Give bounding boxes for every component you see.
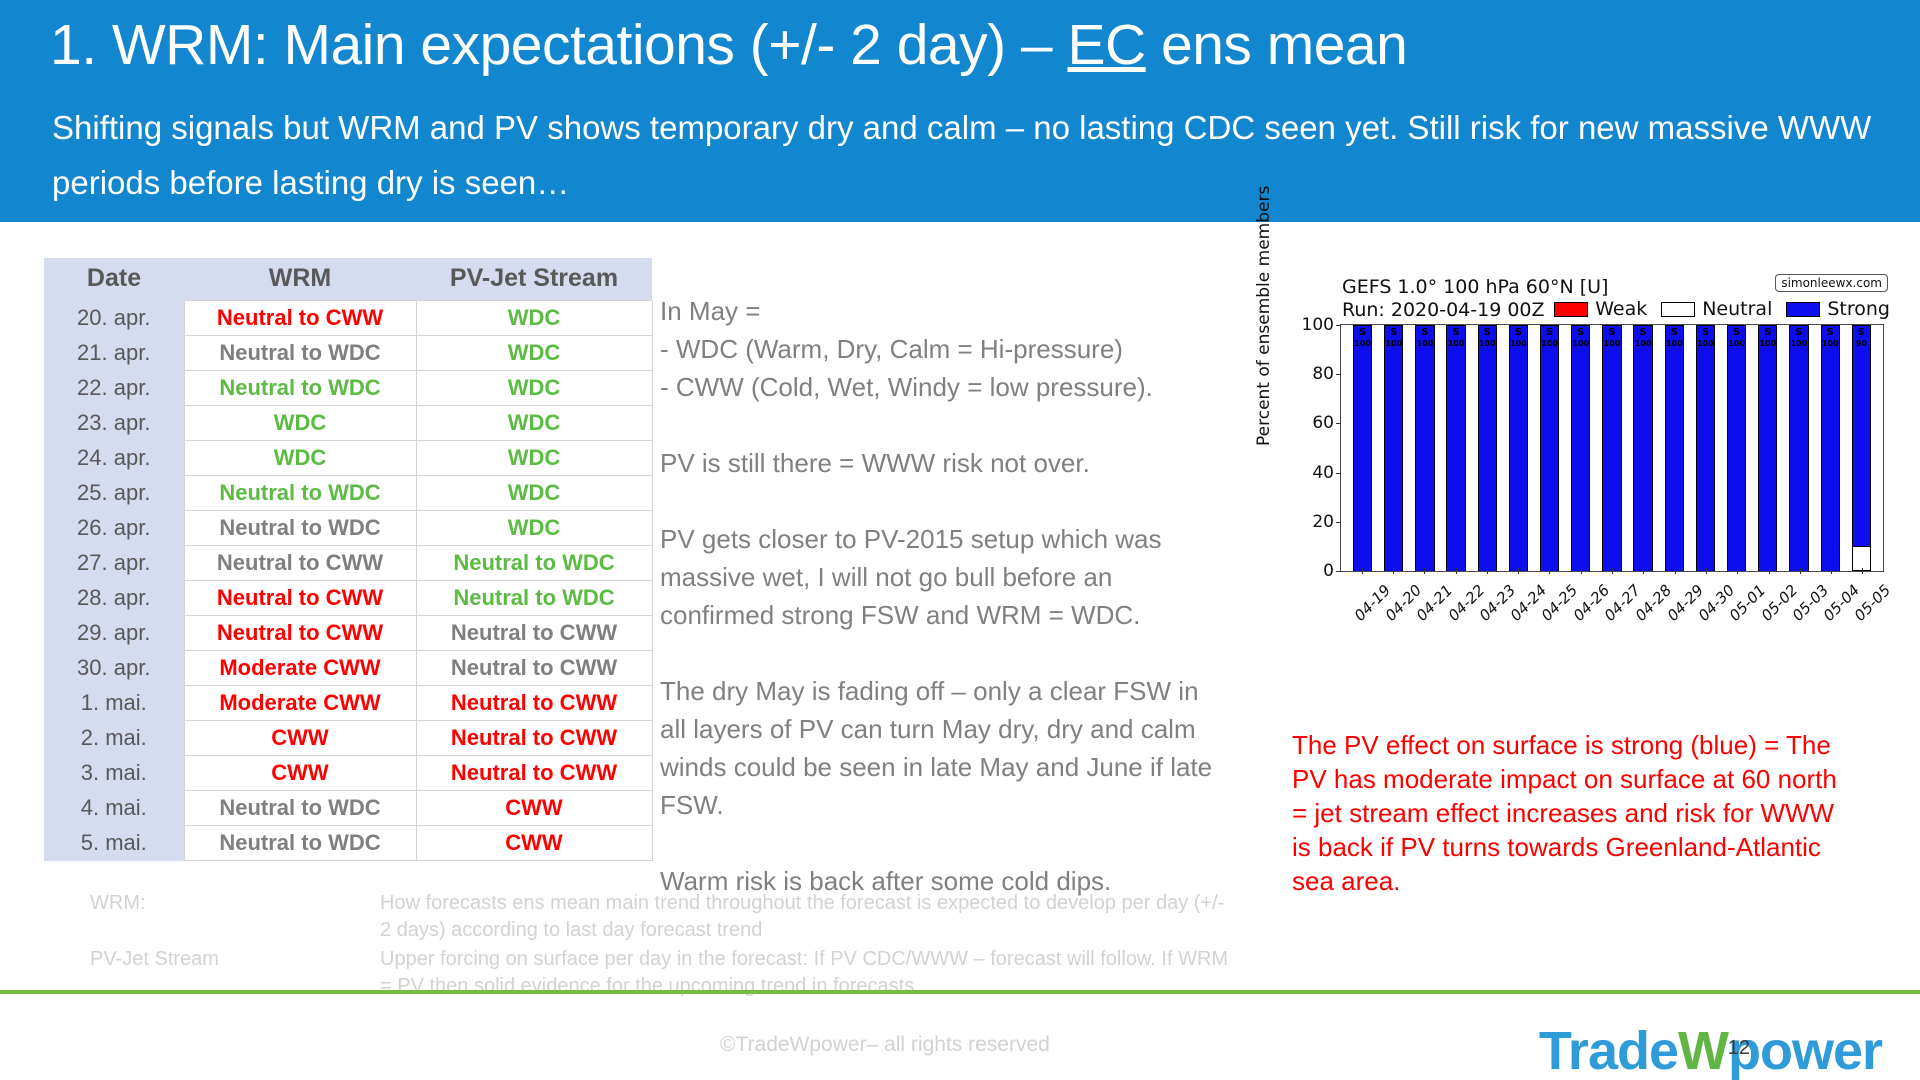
cell-date: 20. apr.: [44, 301, 184, 336]
copyright-text: ©TradeWpower– all rights reserved: [720, 1033, 1050, 1057]
tradewpower-logo: TradeWpower: [1539, 1020, 1882, 1080]
legend-item-strong: Strong: [1786, 298, 1890, 320]
footnote-value: How forecasts ens mean main trend throug…: [380, 890, 1240, 944]
x-tick: 04-23: [1471, 574, 1502, 654]
chart-legend: WeakNeutralStrong: [1554, 298, 1890, 320]
page-title-pre: 1. WRM: Main expectations (+/- 2 day) –: [50, 13, 1067, 77]
x-tick: 05-03: [1784, 574, 1815, 654]
chart-bar-cell: S100: [1752, 325, 1783, 571]
chart-bar-cell: S100: [1690, 325, 1721, 571]
column-header-pv: PV-Jet Stream: [416, 258, 652, 301]
legend-item-weak: Weak: [1554, 298, 1647, 320]
table-row: 23. apr.WDCWDC: [44, 406, 652, 441]
table-body: 20. apr.Neutral to CWWWDC21. apr.Neutral…: [44, 301, 652, 861]
cell-wrm: Neutral to CWW: [184, 581, 416, 616]
footer-divider: [0, 990, 1920, 994]
cell-pv: Neutral to CWW: [416, 756, 652, 791]
bar-category-tag: S: [1822, 327, 1839, 338]
cell-date: 2. mai.: [44, 721, 184, 756]
x-tick: 04-26: [1565, 574, 1596, 654]
bar-category-tag: S: [1603, 327, 1620, 338]
table-row: 5. mai.Neutral to WDCCWW: [44, 826, 652, 861]
chart-bar-cell: S100: [1378, 325, 1409, 571]
bar-segment-strong: S100: [1602, 325, 1621, 571]
table-row: 30. apr.Moderate CWWNeutral to CWW: [44, 651, 652, 686]
bar-category-tag: S: [1510, 327, 1527, 338]
x-tick-label: 05-05: [1851, 581, 1895, 625]
cell-pv: WDC: [416, 301, 652, 336]
chart-bar-cell: S100: [1347, 325, 1378, 571]
legend-swatch-icon: [1786, 302, 1820, 317]
y-tick-label: 100: [1302, 315, 1334, 335]
cell-date: 30. apr.: [44, 651, 184, 686]
table-row: 3. mai.CWWNeutral to CWW: [44, 756, 652, 791]
page-subtitle: Shifting signals but WRM and PV shows te…: [52, 100, 1882, 210]
cell-pv: Neutral to CWW: [416, 721, 652, 756]
cell-date: 26. apr.: [44, 511, 184, 546]
legend-footnotes: WRM:How forecasts ens mean main trend th…: [90, 890, 1240, 1002]
bar-segment-strong: S100: [1415, 325, 1434, 571]
bar-value-label: 100: [1666, 339, 1683, 348]
chart-bar-cell: S100: [1659, 325, 1690, 571]
x-tick: 05-05: [1847, 574, 1878, 654]
bar-segment-strong: S100: [1727, 325, 1746, 571]
bar-category-tag: S: [1759, 327, 1776, 338]
cell-date: 28. apr.: [44, 581, 184, 616]
chart-plot-area: 020406080100 S100S100S100S100S100S100S10…: [1340, 324, 1884, 572]
cell-wrm: Neutral to WDC: [184, 511, 416, 546]
bar-value-label: 100: [1479, 339, 1496, 348]
bar-value-label: 90: [1853, 339, 1870, 348]
chart-y-axis-label: Percent of ensemble members: [1254, 186, 1274, 446]
cell-pv: Neutral to CWW: [416, 616, 652, 651]
chart-run-label: Run: 2020-04-19 00Z: [1342, 299, 1545, 321]
chart-bar: S100: [1540, 325, 1559, 571]
page-title: 1. WRM: Main expectations (+/- 2 day) – …: [50, 12, 1407, 78]
bar-category-tag: S: [1572, 327, 1589, 338]
cell-pv: Neutral to WDC: [416, 546, 652, 581]
cell-date: 22. apr.: [44, 371, 184, 406]
chart-bar: S90: [1852, 325, 1871, 571]
x-tick: 04-20: [1377, 574, 1408, 654]
logo-pre: Trade: [1539, 1021, 1678, 1080]
bar-category-tag: S: [1354, 327, 1371, 338]
bar-value-label: 100: [1447, 339, 1464, 348]
bar-category-tag: S: [1541, 327, 1558, 338]
cell-wrm: Neutral to WDC: [184, 826, 416, 861]
bar-value-label: 100: [1541, 339, 1558, 348]
table-row: 29. apr.Neutral to CWWNeutral to CWW: [44, 616, 652, 651]
cell-wrm: Neutral to CWW: [184, 546, 416, 581]
bar-value-label: 100: [1603, 339, 1620, 348]
chart-bar: S100: [1602, 325, 1621, 571]
cell-pv: WDC: [416, 336, 652, 371]
chart-bar: S100: [1509, 325, 1528, 571]
x-tick: 05-01: [1722, 574, 1753, 654]
bar-value-label: 100: [1510, 339, 1527, 348]
cell-wrm: CWW: [184, 756, 416, 791]
table-row: 26. apr.Neutral to WDCWDC: [44, 511, 652, 546]
chart-bar-cell: S100: [1565, 325, 1596, 571]
forecast-table-wrapper: Date WRM PV-Jet Stream 20. apr.Neutral t…: [44, 258, 652, 861]
bar-segment-strong: S100: [1696, 325, 1715, 571]
bar-segment-strong: S100: [1478, 325, 1497, 571]
chart-bar-cell: S100: [1441, 325, 1472, 571]
cell-date: 29. apr.: [44, 616, 184, 651]
chart-bar: S100: [1758, 325, 1777, 571]
legend-swatch-icon: [1554, 302, 1588, 317]
chart-bar-cell: S100: [1409, 325, 1440, 571]
table-row: 20. apr.Neutral to CWWWDC: [44, 301, 652, 336]
bar-value-label: 100: [1759, 339, 1776, 348]
table-row: 24. apr.WDCWDC: [44, 441, 652, 476]
cell-pv: Neutral to WDC: [416, 581, 652, 616]
bar-category-tag: S: [1697, 327, 1714, 338]
chart-bar: S100: [1665, 325, 1684, 571]
x-tick: 05-02: [1753, 574, 1784, 654]
legend-label: Neutral: [1702, 298, 1772, 320]
column-header-date: Date: [44, 258, 184, 301]
bar-value-label: 100: [1385, 339, 1402, 348]
bar-value-label: 100: [1790, 339, 1807, 348]
cell-wrm: Neutral to CWW: [184, 301, 416, 336]
bar-segment-strong: S100: [1758, 325, 1777, 571]
table-row: 25. apr.Neutral to WDCWDC: [44, 476, 652, 511]
cell-wrm: Moderate CWW: [184, 651, 416, 686]
bar-category-tag: S: [1479, 327, 1496, 338]
chart-bar: S100: [1821, 325, 1840, 571]
x-tick: 04-25: [1534, 574, 1565, 654]
cell-wrm: Neutral to CWW: [184, 616, 416, 651]
bar-segment-strong: S100: [1789, 325, 1808, 571]
table-row: 28. apr.Neutral to CWWNeutral to WDC: [44, 581, 652, 616]
bar-segment-strong: S100: [1665, 325, 1684, 571]
cell-wrm: WDC: [184, 406, 416, 441]
chart-bar: S100: [1633, 325, 1652, 571]
chart-bar: S100: [1446, 325, 1465, 571]
bar-segment-strong: S100: [1509, 325, 1528, 571]
footnote-key: WRM:: [90, 890, 380, 944]
bar-value-label: 100: [1822, 339, 1839, 348]
legend-label: Weak: [1595, 298, 1647, 320]
y-tick-label: 40: [1312, 463, 1334, 483]
bar-segment-strong: S100: [1540, 325, 1559, 571]
y-tick-label: 20: [1312, 512, 1334, 532]
page-title-post: ens mean: [1146, 13, 1408, 77]
bar-segment-strong: S100: [1353, 325, 1372, 571]
commentary-text: In May = - WDC (Warm, Dry, Calm = Hi-pre…: [660, 292, 1220, 900]
bar-segment-strong: S90: [1852, 325, 1871, 546]
bar-value-label: 100: [1697, 339, 1714, 348]
page-number: 12: [1728, 1037, 1750, 1060]
chart-bar: S100: [1353, 325, 1372, 571]
slide-root: 1. WRM: Main expectations (+/- 2 day) – …: [0, 0, 1920, 1080]
logo-post: power: [1728, 1021, 1882, 1080]
cell-date: 23. apr.: [44, 406, 184, 441]
cell-pv: CWW: [416, 791, 652, 826]
chart-bar: S100: [1384, 325, 1403, 571]
cell-pv: WDC: [416, 371, 652, 406]
bar-value-label: 100: [1728, 339, 1745, 348]
cell-pv: WDC: [416, 511, 652, 546]
bar-value-label: 100: [1634, 339, 1651, 348]
x-tick: 04-22: [1440, 574, 1471, 654]
y-tick-label: 80: [1312, 364, 1334, 384]
chart-bar-cell: S100: [1783, 325, 1814, 571]
x-tick: 04-19: [1346, 574, 1377, 654]
bar-category-tag: S: [1728, 327, 1745, 338]
chart-x-axis: 04-1904-2004-2104-2204-2304-2404-2504-26…: [1340, 574, 1884, 654]
cell-wrm: Neutral to WDC: [184, 371, 416, 406]
cell-date: 25. apr.: [44, 476, 184, 511]
cell-date: 4. mai.: [44, 791, 184, 826]
cell-wrm: Moderate CWW: [184, 686, 416, 721]
bar-category-tag: S: [1416, 327, 1433, 338]
chart-bar-cell: S100: [1472, 325, 1503, 571]
table-row: 1. mai.Moderate CWWNeutral to CWW: [44, 686, 652, 721]
chart-title: GEFS 1.0° 100 hPa 60°N [U]: [1342, 276, 1608, 298]
cell-date: 27. apr.: [44, 546, 184, 581]
legend-item-neutral: Neutral: [1661, 298, 1772, 320]
cell-pv: WDC: [416, 406, 652, 441]
cell-pv: WDC: [416, 441, 652, 476]
watermark-label: simonleewx.com: [1775, 274, 1888, 292]
bar-segment-strong: S100: [1633, 325, 1652, 571]
table-row: 27. apr.Neutral to CWWNeutral to WDC: [44, 546, 652, 581]
y-tick-label: 0: [1323, 561, 1334, 581]
bar-category-tag: S: [1666, 327, 1683, 338]
chart-bar-cell: S100: [1596, 325, 1627, 571]
forecast-table: Date WRM PV-Jet Stream 20. apr.Neutral t…: [44, 258, 653, 861]
bar-segment-strong: S100: [1571, 325, 1590, 571]
x-tick: 04-24: [1502, 574, 1533, 654]
cell-date: 24. apr.: [44, 441, 184, 476]
x-tick: 04-21: [1409, 574, 1440, 654]
cell-date: 1. mai.: [44, 686, 184, 721]
bar-value-label: 100: [1572, 339, 1589, 348]
bar-category-tag: S: [1790, 327, 1807, 338]
chart-bar: S100: [1789, 325, 1808, 571]
chart-bar: S100: [1415, 325, 1434, 571]
chart-bar-cell: S100: [1721, 325, 1752, 571]
bar-segment-neutral: [1852, 546, 1871, 571]
cell-pv: Neutral to CWW: [416, 651, 652, 686]
chart-bar-cell: S100: [1628, 325, 1659, 571]
cell-pv: CWW: [416, 826, 652, 861]
page-title-underlined: EC: [1067, 13, 1145, 77]
bar-category-tag: S: [1385, 327, 1402, 338]
legend-swatch-icon: [1661, 302, 1695, 317]
chart-bar-cell: S100: [1815, 325, 1846, 571]
chart-bar-cell: S100: [1503, 325, 1534, 571]
cell-wrm: Neutral to WDC: [184, 476, 416, 511]
footnote-row: WRM:How forecasts ens mean main trend th…: [90, 890, 1240, 944]
bar-category-tag: S: [1447, 327, 1464, 338]
cell-wrm: WDC: [184, 441, 416, 476]
table-row: 22. apr.Neutral to WDCWDC: [44, 371, 652, 406]
cell-pv: WDC: [416, 476, 652, 511]
cell-wrm: CWW: [184, 721, 416, 756]
cell-date: 5. mai.: [44, 826, 184, 861]
logo-w-mark: W: [1678, 1021, 1728, 1080]
table-header-row: Date WRM PV-Jet Stream: [44, 258, 652, 301]
x-tick: 04-28: [1628, 574, 1659, 654]
table-row: 21. apr.Neutral to WDCWDC: [44, 336, 652, 371]
chart-bars: S100S100S100S100S100S100S100S100S100S100…: [1341, 325, 1883, 571]
x-tick: 04-30: [1690, 574, 1721, 654]
table-row: 2. mai.CWWNeutral to CWW: [44, 721, 652, 756]
pv-effect-note: The PV effect on surface is strong (blue…: [1292, 728, 1852, 898]
legend-label: Strong: [1827, 298, 1890, 320]
chart-bar: S100: [1727, 325, 1746, 571]
x-tick: 05-04: [1815, 574, 1846, 654]
cell-wrm: Neutral to WDC: [184, 336, 416, 371]
cell-wrm: Neutral to WDC: [184, 791, 416, 826]
gefs-ensemble-chart: GEFS 1.0° 100 hPa 60°N [U] Run: 2020-04-…: [1272, 276, 1892, 666]
chart-bar-cell: S90: [1846, 325, 1877, 571]
bar-category-tag: S: [1853, 327, 1870, 338]
x-tick: 04-27: [1596, 574, 1627, 654]
x-tick: 04-29: [1659, 574, 1690, 654]
chart-bar: S100: [1571, 325, 1590, 571]
bar-value-label: 100: [1354, 339, 1371, 348]
bar-value-label: 100: [1416, 339, 1433, 348]
bar-segment-strong: S100: [1446, 325, 1465, 571]
bar-category-tag: S: [1634, 327, 1651, 338]
chart-bar: S100: [1696, 325, 1715, 571]
cell-date: 21. apr.: [44, 336, 184, 371]
bar-segment-strong: S100: [1821, 325, 1840, 571]
table-row: 4. mai.Neutral to WDCCWW: [44, 791, 652, 826]
chart-bar-cell: S100: [1534, 325, 1565, 571]
y-tick-label: 60: [1312, 413, 1334, 433]
column-header-wrm: WRM: [184, 258, 416, 301]
bar-segment-strong: S100: [1384, 325, 1403, 571]
chart-bar: S100: [1478, 325, 1497, 571]
header-banner: 1. WRM: Main expectations (+/- 2 day) – …: [0, 0, 1920, 222]
cell-date: 3. mai.: [44, 756, 184, 791]
cell-pv: Neutral to CWW: [416, 686, 652, 721]
